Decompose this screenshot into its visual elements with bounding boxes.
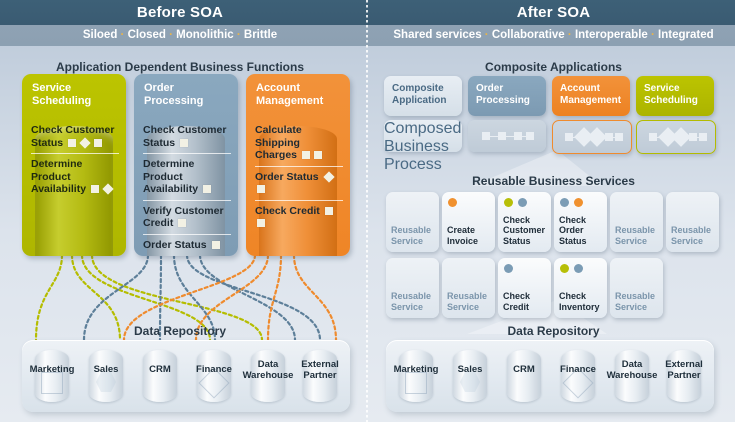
subtitle-separator: · — [166, 29, 176, 41]
subtitle-separator: · — [117, 29, 127, 41]
square-marker-icon — [314, 151, 322, 159]
right-data-repository: Marketing Sales CRM Finance Data Warehou… — [386, 340, 714, 412]
subtitle-part: Brittle — [244, 29, 277, 41]
database-sales[interactable]: Sales — [84, 350, 128, 402]
app-column-service-scheduling[interactable]: Service Scheduling Check Customer Status… — [22, 74, 126, 256]
square-marker-icon — [212, 241, 220, 249]
database-sales[interactable]: Sales — [448, 350, 492, 402]
square-marker-icon — [68, 139, 76, 147]
app-function-item[interactable]: Determine Product Availability — [143, 153, 231, 200]
composed-process-account-management[interactable] — [552, 120, 632, 154]
database-finance[interactable]: Finance — [192, 350, 236, 402]
process-flow-branch — [637, 126, 715, 148]
left-repository-title: Data Repository — [0, 324, 360, 338]
status-dot-green — [504, 198, 513, 207]
service-card-check-credit[interactable]: Check Credit — [498, 258, 551, 318]
app-function-item[interactable]: Check Customer Status — [143, 120, 231, 153]
service-card-reusable[interactable]: Reusable Service — [666, 192, 719, 252]
app-function-label: Determine Product Availability — [143, 158, 198, 195]
database-label: Sales — [75, 364, 137, 375]
service-card-reusable[interactable]: Reusable Service — [442, 258, 495, 318]
database-label: CRM — [129, 364, 191, 375]
flow-step-icon — [689, 133, 697, 141]
app-function-label: Order Status — [143, 239, 207, 251]
app-function-item[interactable]: Check Customer Status — [31, 120, 119, 153]
flow-step-icon — [514, 132, 522, 140]
subtitle-part: Interoperable — [575, 29, 648, 41]
square-marker-icon — [257, 219, 265, 227]
left-panel-title: Application Dependent Business Functions — [0, 60, 360, 74]
diamond-marker-icon — [323, 171, 334, 182]
app-column-title: Order Processing — [144, 82, 230, 108]
service-label: Reusable Service — [615, 291, 660, 312]
database-label: Sales — [439, 364, 501, 375]
square-marker-icon — [178, 219, 186, 227]
composite-app-title: Composite Application — [392, 83, 457, 107]
glyph-square-icon — [405, 372, 427, 394]
square-marker-icon — [257, 185, 265, 193]
glyph-square-icon — [41, 372, 63, 394]
app-function-list: Calculate Shipping Charges Order Status … — [255, 120, 343, 234]
database-label: Finance — [547, 364, 609, 375]
app-column-title: Service Scheduling — [32, 82, 118, 108]
service-label: Check Inventory — [559, 291, 604, 312]
database-label: External Partner — [289, 359, 351, 381]
service-label: Check Credit — [503, 291, 548, 312]
composed-process-service-scheduling[interactable] — [636, 120, 716, 154]
cylinder-icon — [507, 350, 541, 402]
square-marker-icon — [180, 139, 188, 147]
composite-app-service-scheduling[interactable]: Service Scheduling — [636, 76, 714, 116]
cylinder-icon — [143, 350, 177, 402]
app-function-label: Order Status — [255, 171, 319, 183]
process-flow-branch — [553, 126, 631, 148]
composite-applications-title: Composite Applications — [372, 60, 735, 74]
subtitle-part: Shared services — [393, 29, 481, 41]
app-function-label: Determine Product Availability — [31, 158, 86, 195]
app-function-list: Check Customer Status Determine Product … — [143, 120, 231, 255]
database-label: CRM — [493, 364, 555, 375]
before-soa-title: Before SOA — [0, 3, 360, 23]
square-marker-icon — [203, 185, 211, 193]
status-dot-green — [560, 264, 569, 273]
soa-comparison-diagram: Before SOA After SOA Siloed · Closed · M… — [0, 0, 735, 422]
subtitle-part: Monolithic — [176, 29, 234, 41]
database-crm[interactable]: CRM — [502, 350, 546, 402]
app-function-item[interactable]: Calculate Shipping Charges — [255, 120, 343, 166]
service-card-create-invoice[interactable]: Create Invoice — [442, 192, 495, 252]
left-data-repository: Marketing Sales CRM Finance Data Warehou… — [22, 340, 350, 412]
composite-app-title: Service Scheduling — [644, 83, 709, 107]
right-repository-title: Data Repository — [372, 324, 735, 338]
flow-decision-icon — [671, 127, 691, 147]
diamond-marker-icon — [79, 137, 90, 148]
app-function-item[interactable]: Check Credit — [255, 200, 343, 234]
app-function-label: Calculate Shipping Charges — [255, 124, 302, 161]
service-card-check-order-status[interactable]: Check Order Status — [554, 192, 607, 252]
service-card-reusable[interactable]: Reusable Service — [610, 258, 663, 318]
composed-process-legend[interactable]: Composed Business Process — [384, 120, 462, 152]
database-external-partner[interactable]: External Partner — [298, 350, 342, 402]
flow-step-icon — [482, 132, 490, 140]
service-card-reusable[interactable]: Reusable Service — [386, 258, 439, 318]
diamond-marker-icon — [102, 183, 113, 194]
panel-divider — [366, 0, 368, 422]
database-external-partner[interactable]: External Partner — [662, 350, 706, 402]
square-marker-icon — [94, 139, 102, 147]
app-function-label: Check Credit — [255, 205, 320, 217]
subtitle-separator: · — [648, 29, 658, 41]
square-marker-icon — [325, 207, 333, 215]
database-label: Marketing — [385, 364, 447, 375]
flow-step-icon — [699, 133, 707, 141]
composed-process-order-processing[interactable] — [468, 120, 546, 152]
flow-step-icon — [526, 132, 534, 140]
flow-step-icon — [605, 133, 613, 141]
status-dot-blue — [518, 198, 527, 207]
service-label: Reusable Service — [671, 225, 716, 246]
composite-app-title: Order Processing — [476, 83, 541, 107]
status-dot-orange — [448, 198, 457, 207]
before-soa-subtitle: Siloed · Closed · Monolithic · Brittle — [0, 25, 360, 46]
app-function-list: Check Customer Status Determine Product … — [31, 120, 119, 200]
service-label: Reusable Service — [391, 291, 436, 312]
subtitle-part: Integrated — [658, 29, 714, 41]
service-label: Create Invoice — [447, 225, 492, 246]
service-card-check-inventory[interactable]: Check Inventory — [554, 258, 607, 318]
database-label: Marketing — [21, 364, 83, 375]
reusable-services-title: Reusable Business Services — [372, 174, 735, 188]
subtitle-separator: · — [482, 29, 492, 41]
service-label: Check Customer Status — [503, 215, 548, 247]
square-marker-icon — [91, 185, 99, 193]
subtitle-separator: · — [565, 29, 575, 41]
app-column-order-processing[interactable]: Order Processing Check Customer Status D… — [134, 74, 238, 256]
flow-line — [484, 136, 530, 138]
status-dot-orange — [574, 198, 583, 207]
database-marketing[interactable]: Marketing — [394, 350, 438, 402]
service-card-check-customer-status[interactable]: Check Customer Status — [498, 192, 551, 252]
status-dot-blue — [504, 264, 513, 273]
flow-step-icon — [615, 133, 623, 141]
subtitle-part: Siloed — [83, 29, 118, 41]
flow-decision-icon — [587, 127, 607, 147]
subtitle-part: Closed — [128, 29, 166, 41]
app-function-item[interactable]: Order Status — [255, 166, 343, 200]
database-crm[interactable]: CRM — [138, 350, 182, 402]
service-label: Check Order Status — [559, 215, 604, 247]
database-label: Finance — [183, 364, 245, 375]
database-data-warehouse[interactable]: Data Warehouse — [610, 350, 654, 402]
process-flow-linear — [468, 125, 546, 147]
database-marketing[interactable]: Marketing — [30, 350, 74, 402]
flow-step-icon — [649, 133, 657, 141]
database-data-warehouse[interactable]: Data Warehouse — [246, 350, 290, 402]
after-soa-title: After SOA — [372, 3, 735, 23]
app-column-title: Account Management — [256, 82, 342, 108]
composite-app-account-management[interactable]: Account Management — [552, 76, 630, 116]
flow-step-icon — [498, 132, 506, 140]
subtitle-part: Collaborative — [492, 29, 565, 41]
after-soa-subtitle: Shared services · Collaborative · Intero… — [372, 25, 735, 46]
app-function-item[interactable]: Verify Customer Credit — [143, 200, 231, 234]
subtitle-separator: · — [234, 29, 244, 41]
status-dot-blue — [574, 264, 583, 273]
status-dot-blue — [560, 198, 569, 207]
composite-app-order-processing[interactable]: Order Processing — [468, 76, 546, 116]
composite-app-legend[interactable]: Composite Application — [384, 76, 462, 116]
square-marker-icon — [302, 151, 310, 159]
database-finance[interactable]: Finance — [556, 350, 600, 402]
app-column-account-management[interactable]: Account Management Calculate Shipping Ch… — [246, 74, 350, 256]
service-label: Reusable Service — [391, 225, 436, 246]
service-card-reusable[interactable]: Reusable Service — [610, 192, 663, 252]
database-label: External Partner — [653, 359, 715, 381]
composed-process-title: Composed Business Process — [384, 120, 462, 174]
app-function-item[interactable]: Order Status — [143, 234, 231, 256]
service-label: Reusable Service — [447, 291, 492, 312]
composite-app-title: Account Management — [560, 83, 625, 107]
service-card-reusable[interactable]: Reusable Service — [386, 192, 439, 252]
service-label: Reusable Service — [615, 225, 660, 246]
flow-step-icon — [565, 133, 573, 141]
app-function-item[interactable]: Determine Product Availability — [31, 153, 119, 200]
